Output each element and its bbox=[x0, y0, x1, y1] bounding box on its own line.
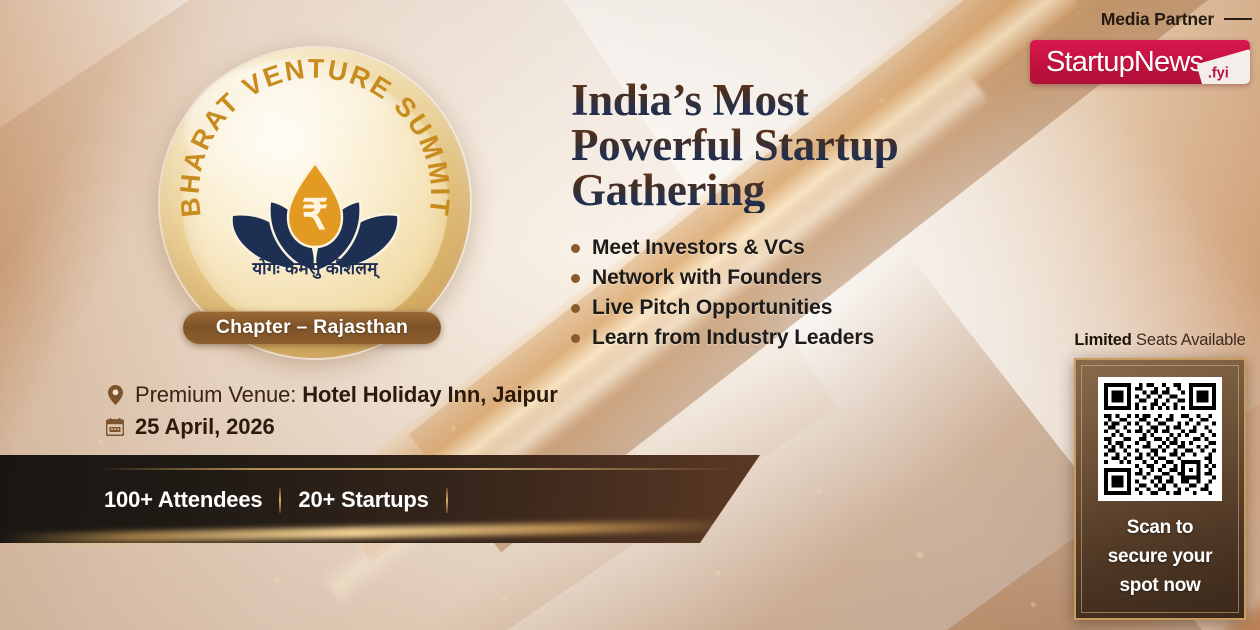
startupnews-wordmark: StartupNews bbox=[1046, 46, 1203, 79]
bullet-dot-icon bbox=[571, 334, 580, 343]
list-item: Learn from Industry Leaders bbox=[571, 323, 874, 353]
bullet-label: Learn from Industry Leaders bbox=[592, 326, 874, 350]
qr-caption-line-1: Scan to bbox=[1108, 513, 1212, 542]
media-partner-label: Media Partner bbox=[1101, 9, 1214, 30]
startupnews-logo[interactable]: StartupNews .fyi bbox=[1030, 40, 1250, 84]
event-promo-banner: BHARAT VENTURE SUMMIT ₹ योगः कर्मसु कौशल… bbox=[0, 0, 1260, 630]
bullet-label: Network with Founders bbox=[592, 266, 822, 290]
chapter-badge-label: Chapter – Rajasthan bbox=[216, 316, 408, 339]
limited-seats-label: Limited Seats Available bbox=[1064, 331, 1256, 350]
emblem-sanskrit-motto: योगः कर्मसु कौशलम् bbox=[160, 256, 470, 279]
stat-attendees: 100+ Attendees bbox=[104, 487, 262, 513]
location-pin-icon bbox=[104, 385, 126, 405]
media-partner-heading: Media Partner bbox=[1020, 8, 1252, 30]
qr-caption-line-3: spot now bbox=[1108, 571, 1212, 600]
bullet-dot-icon bbox=[571, 274, 580, 283]
qr-cta-panel[interactable]: Scan to secure your spot now bbox=[1074, 358, 1246, 620]
media-partner-dash-icon bbox=[1224, 18, 1252, 20]
venue-row: Premium Venue: Hotel Holiday Inn, Jaipur bbox=[104, 379, 558, 411]
list-item: Network with Founders bbox=[571, 263, 874, 293]
stat-divider bbox=[446, 488, 448, 513]
stats-list: 100+ Attendees 20+ Startups bbox=[104, 483, 465, 517]
stats-band-top-line bbox=[95, 468, 735, 470]
date-text: 25 April, 2026 bbox=[135, 414, 275, 440]
bullet-label: Live Pitch Opportunities bbox=[592, 296, 832, 320]
limited-seats-rest: Seats Available bbox=[1132, 331, 1246, 349]
list-item: Live Pitch Opportunities bbox=[571, 293, 874, 323]
bullet-label: Meet Investors & VCs bbox=[592, 236, 805, 260]
calendar-icon bbox=[104, 418, 126, 436]
rupee-symbol: ₹ bbox=[302, 191, 329, 238]
event-details: Premium Venue: Hotel Holiday Inn, Jaipur… bbox=[104, 379, 558, 443]
benefits-list: Meet Investors & VCs Network with Founde… bbox=[571, 233, 874, 353]
bullet-dot-icon bbox=[571, 244, 580, 253]
date-row: 25 April, 2026 bbox=[104, 411, 558, 443]
startupnews-tld-label: .fyi bbox=[1208, 66, 1229, 82]
qr-code-matrix bbox=[1104, 383, 1216, 495]
limited-seats-emphasis: Limited bbox=[1074, 331, 1131, 349]
qr-code[interactable] bbox=[1098, 377, 1222, 501]
headline-line-1: India’s Most bbox=[571, 78, 991, 123]
venue-prefix: Premium Venue: bbox=[135, 382, 302, 407]
headline-block: India’s Most Powerful Startup Gathering bbox=[571, 78, 991, 213]
media-partner-block: Media Partner StartupNews .fyi bbox=[1020, 8, 1252, 30]
list-item: Meet Investors & VCs bbox=[571, 233, 874, 263]
stat-divider bbox=[279, 488, 281, 513]
qr-caption-line-2: secure your bbox=[1108, 542, 1212, 571]
headline-line-2: Powerful Startup bbox=[571, 123, 991, 168]
headline-line-3: Gathering bbox=[571, 168, 991, 213]
stat-startups: 20+ Startups bbox=[298, 487, 428, 513]
date-value: 25 April, 2026 bbox=[135, 414, 275, 439]
venue-name: Hotel Holiday Inn, Jaipur bbox=[302, 382, 557, 407]
qr-caption: Scan to secure your spot now bbox=[1102, 513, 1218, 600]
venue-text: Premium Venue: Hotel Holiday Inn, Jaipur bbox=[135, 382, 558, 408]
chapter-badge: Chapter – Rajasthan bbox=[183, 311, 441, 344]
qr-panel-inner: Scan to secure your spot now bbox=[1081, 365, 1239, 613]
startupnews-tld-badge: .fyi bbox=[1196, 49, 1250, 84]
bullet-dot-icon bbox=[571, 304, 580, 313]
